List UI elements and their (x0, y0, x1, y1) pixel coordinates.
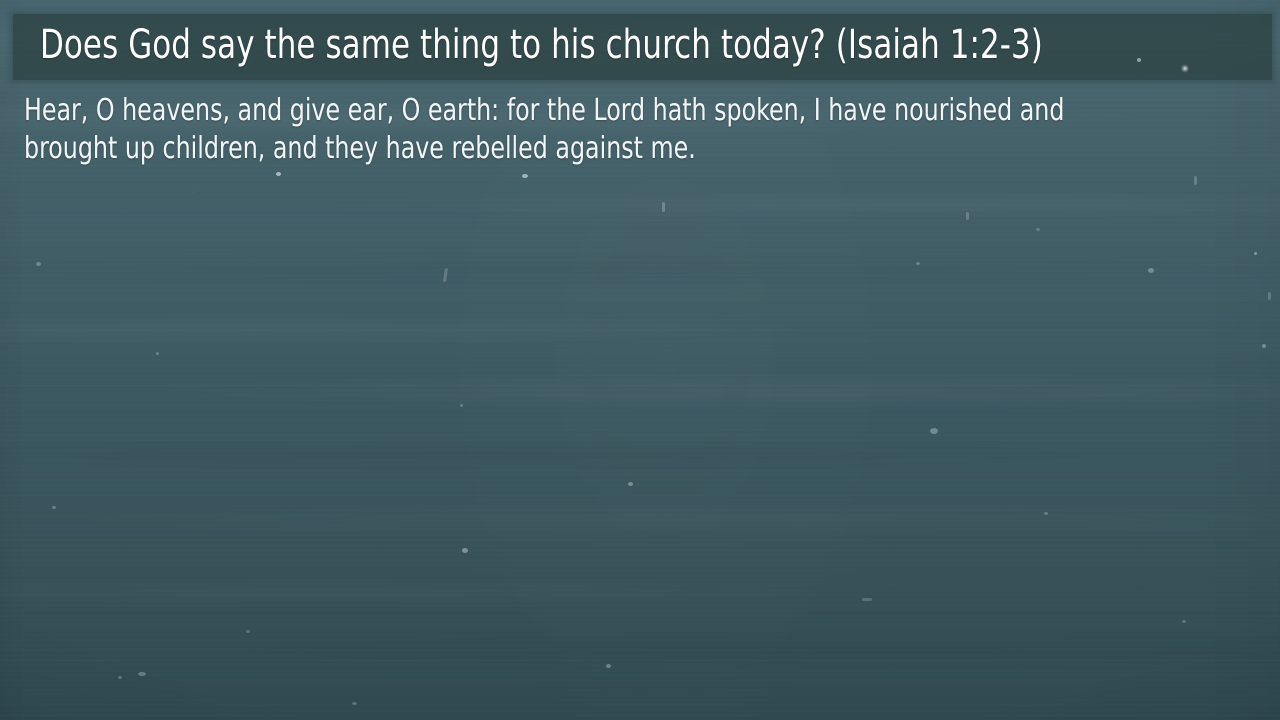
slide-body-text: Hear, O heavens, and give ear, O earth: … (24, 92, 1071, 168)
slide-title: Does God say the same thing to his churc… (40, 16, 1003, 74)
dust-speck-icon (1181, 64, 1189, 73)
dust-speck-small-icon (1137, 58, 1141, 62)
slide-content-area (24, 180, 1256, 700)
presentation-slide: Does God say the same thing to his churc… (0, 0, 1280, 720)
